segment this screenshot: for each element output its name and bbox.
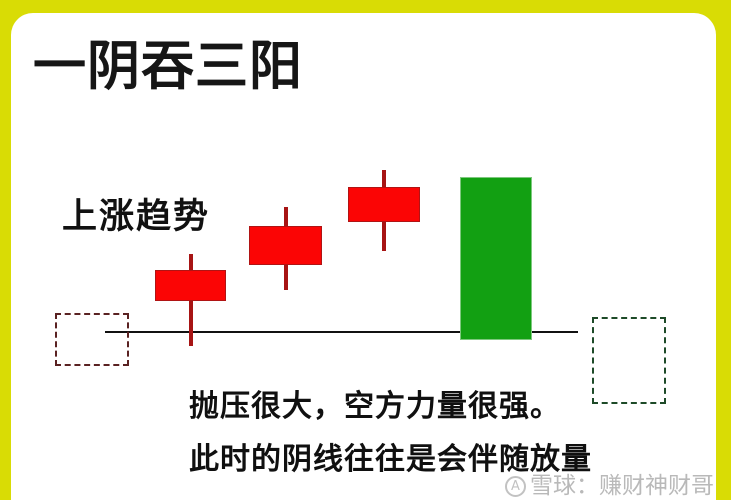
candle-3-body (348, 187, 420, 222)
candle-4-bearish-engulfing (460, 177, 532, 340)
caption-line-1: 抛压很大，空方力量很强。 (189, 388, 561, 426)
candle-1-body (155, 270, 226, 301)
candle-3-bullish (348, 170, 420, 251)
watermark-logo-icon: A (505, 476, 526, 497)
left-volume-box (55, 313, 129, 366)
watermark-text: 雪球：赚财神财哥 (530, 472, 714, 500)
candlestick-chart (11, 13, 716, 500)
right-volume-box (592, 317, 666, 404)
slide-page: 一阴吞三阳 上涨趋势 (11, 13, 716, 500)
candle-4-body (460, 177, 532, 340)
candle-2-body (249, 226, 322, 265)
candle-2-bullish (249, 207, 322, 290)
slide-frame: 一阴吞三阳 上涨趋势 (0, 0, 731, 500)
candle-1-bullish (155, 254, 226, 346)
watermark: A 雪球：赚财神财哥 (505, 472, 714, 500)
